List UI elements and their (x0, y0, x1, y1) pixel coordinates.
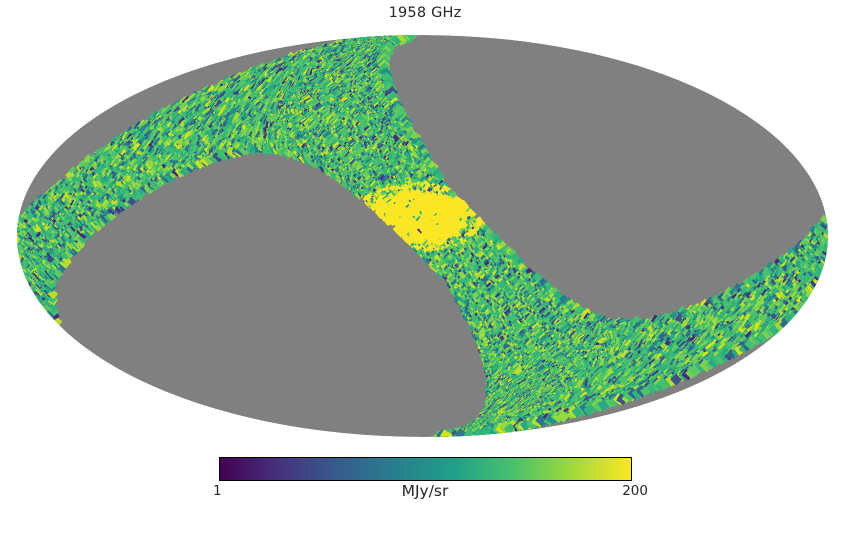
figure-canvas: 1958 GHz (0, 0, 850, 540)
